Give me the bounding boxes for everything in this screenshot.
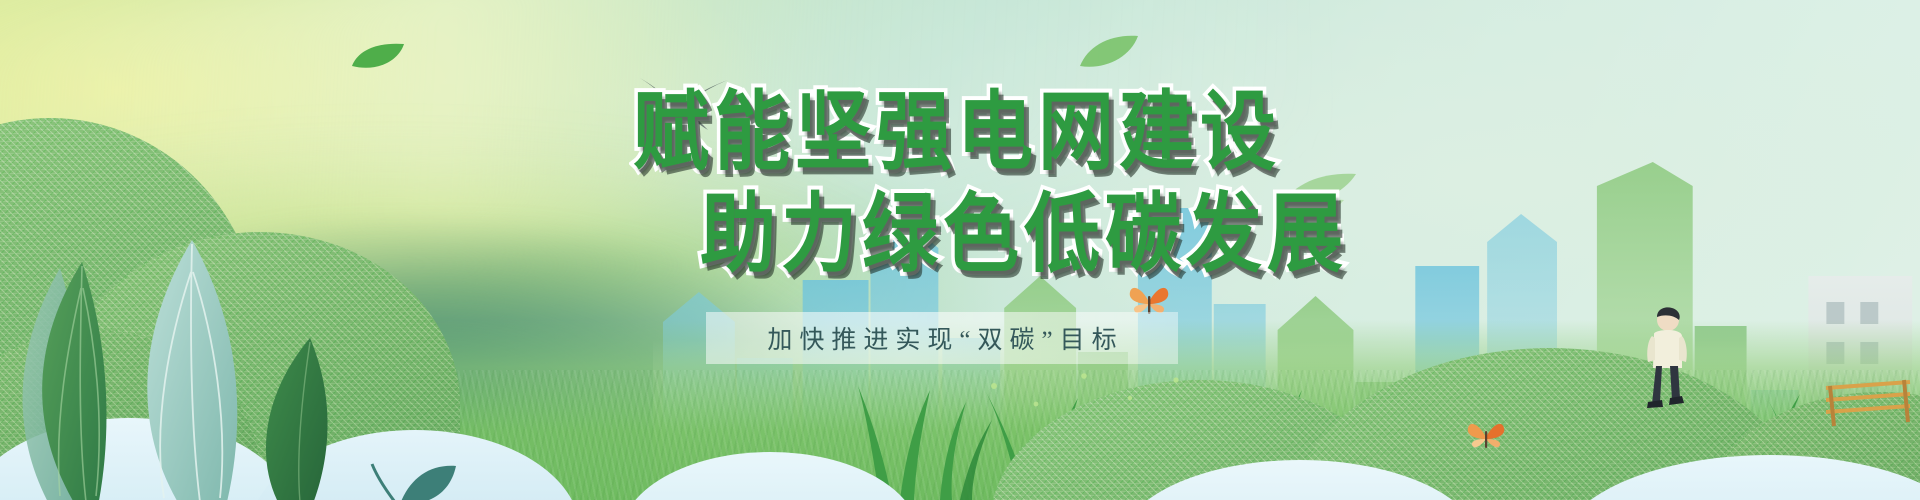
floating-leaf-1 [350,40,406,74]
park-bench [1820,368,1916,438]
person-walking [1630,306,1702,416]
person-leg-left [1652,366,1662,404]
person-shoe-left [1647,400,1663,408]
swallow-body [640,78,728,132]
person-shoe-right [1669,396,1684,405]
subtitle-text: 加快推进实现“双碳”目标 [760,320,1123,356]
floating-leaf-4 [1290,196,1346,220]
leaf-green-2 [266,338,328,500]
person-arm-left [1647,336,1655,362]
green-grid-campaign-banner: 赋能坚强电网建设 助力绿色低碳发展 加快推进实现“双碳”目标 [0,0,1920,500]
leaf-sprig-stem [372,464,398,500]
butterfly-2 [1466,418,1506,452]
person-leg-right [1670,366,1680,400]
foreground-leaves-group [0,196,500,500]
swallow-bird-icon [636,74,732,134]
floating-leaf-2 [1078,32,1140,72]
subtitle-plate: 加快推进实现“双碳”目标 [706,312,1178,364]
person-arm-right [1679,336,1687,362]
person-shirt [1653,330,1682,368]
leaf-sprig [400,466,456,500]
